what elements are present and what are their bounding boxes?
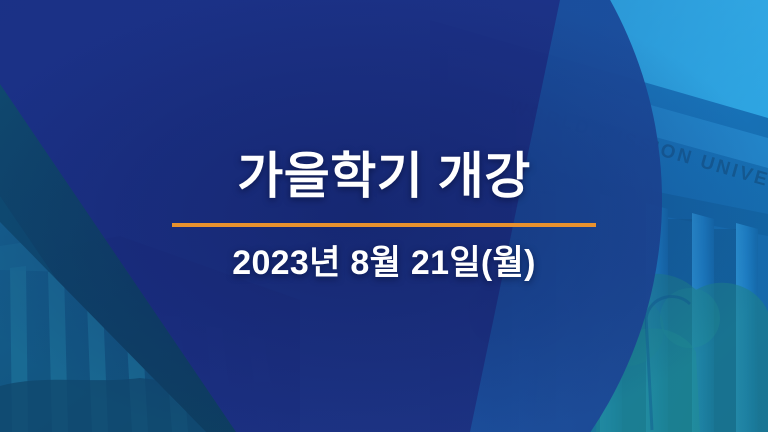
banner-date-subtitle: 2023년 8월 21일(월) <box>232 245 536 282</box>
banner-content: 가을학기 개강 2023년 8월 21일(월) <box>0 0 768 432</box>
seasonal-announcement-banner: WORLD MISSION UNIVERSITY <box>0 0 768 432</box>
banner-title: 가을학기 개강 <box>237 149 530 203</box>
orange-divider-rule <box>172 223 596 227</box>
